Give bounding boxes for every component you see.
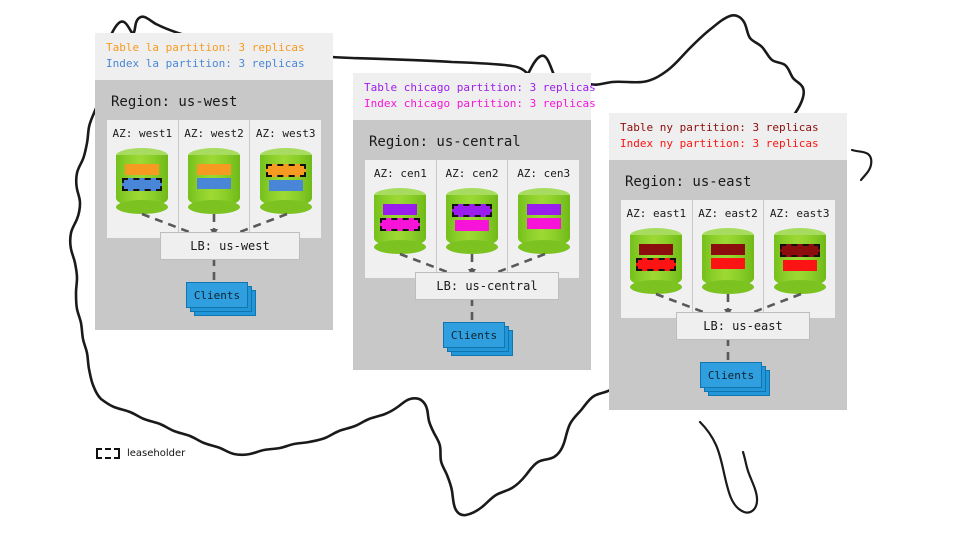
lb-box-us-east[interactable]: LB: us-east — [676, 312, 810, 340]
replica-stripe-table — [527, 204, 561, 215]
db-bottom — [774, 280, 826, 294]
clients-stack-us-east[interactable]: Clients — [700, 362, 762, 388]
map-detail-florida — [700, 422, 757, 513]
db-node-cen1[interactable] — [374, 188, 426, 254]
clients-stack-us-west[interactable]: Clients — [186, 282, 248, 308]
lb-label: LB: us-central — [436, 279, 537, 293]
az-strip-us-east: AZ: east1 AZ: east2 — [621, 200, 835, 318]
replica-stripe-table — [452, 204, 492, 217]
replica-stripe-index — [197, 178, 231, 189]
replica-stripe-table — [639, 244, 673, 255]
replica-stripe-table — [780, 244, 820, 257]
az-label: AZ: east1 — [621, 207, 692, 220]
replica-stripe-table — [125, 164, 159, 175]
partition-line-index: Index ny partition: 3 replicas — [620, 136, 836, 152]
region-title: Region: us-central — [365, 130, 579, 160]
replica-stripes — [702, 244, 754, 269]
az-label: AZ: east2 — [693, 207, 764, 220]
az-label: AZ: west3 — [250, 127, 321, 140]
partition-line-index: Index chicago partition: 3 replicas — [364, 96, 580, 112]
clients-label: Clients — [186, 282, 248, 308]
clients-label: Clients — [443, 322, 505, 348]
lb-box-us-central[interactable]: LB: us-central — [415, 272, 559, 300]
db-node-cen3[interactable] — [518, 188, 570, 254]
partition-header-us-west: Table la partition: 3 replicas Index la … — [95, 33, 333, 80]
region-title: Region: us-east — [621, 170, 835, 200]
replica-stripes — [518, 204, 570, 229]
db-node-east1[interactable] — [630, 228, 682, 294]
db-node-east3[interactable] — [774, 228, 826, 294]
az-cell-cen2[interactable]: AZ: cen2 — [436, 160, 508, 278]
az-cell-west1[interactable]: AZ: west1 — [107, 120, 178, 238]
db-node-west3[interactable] — [260, 148, 312, 214]
lb-box-us-west[interactable]: LB: us-west — [160, 232, 300, 260]
partition-line-table: Table la partition: 3 replicas — [106, 40, 322, 56]
replica-stripes — [188, 164, 240, 189]
az-label: AZ: west1 — [107, 127, 178, 140]
az-cell-cen3[interactable]: AZ: cen3 — [507, 160, 579, 278]
partition-header-us-central: Table chicago partition: 3 replicas Inde… — [353, 73, 591, 120]
az-cell-cen1[interactable]: AZ: cen1 — [365, 160, 436, 278]
az-cell-east1[interactable]: AZ: east1 — [621, 200, 692, 318]
db-node-cen2[interactable] — [446, 188, 498, 254]
replica-stripes — [774, 244, 826, 271]
replica-stripe-table — [266, 164, 306, 177]
replica-stripe-table — [711, 244, 745, 255]
az-cell-west3[interactable]: AZ: west3 — [249, 120, 321, 238]
db-bottom — [260, 200, 312, 214]
replica-stripes — [116, 164, 168, 191]
partition-line-table: Table ny partition: 3 replicas — [620, 120, 836, 136]
clients-label: Clients — [700, 362, 762, 388]
az-cell-west2[interactable]: AZ: west2 — [178, 120, 250, 238]
replica-stripe-index — [380, 218, 420, 231]
replica-stripe-index — [527, 218, 561, 229]
legend-label: leaseholder — [127, 448, 185, 459]
diagram-canvas: Table la partition: 3 replicas Index la … — [0, 0, 960, 540]
replica-stripe-index — [122, 178, 162, 191]
replica-stripe-index — [455, 220, 489, 231]
az-strip-us-central: AZ: cen1 AZ: cen2 — [365, 160, 579, 278]
leaseholder-swatch-icon — [96, 448, 120, 459]
partition-line-index: Index la partition: 3 replicas — [106, 56, 322, 72]
az-label: AZ: cen1 — [365, 167, 436, 180]
replica-stripe-table — [383, 204, 417, 215]
replica-stripe-index — [636, 258, 676, 271]
region-title: Region: us-west — [107, 90, 321, 120]
az-label: AZ: cen2 — [437, 167, 508, 180]
db-bottom — [374, 240, 426, 254]
db-bottom — [702, 280, 754, 294]
lb-label: LB: us-west — [190, 239, 269, 253]
replica-stripe-index — [269, 180, 303, 191]
db-node-west1[interactable] — [116, 148, 168, 214]
replica-stripe-table — [197, 164, 231, 175]
az-strip-us-west: AZ: west1 AZ: west2 — [107, 120, 321, 238]
db-bottom — [518, 240, 570, 254]
replica-stripes — [260, 164, 312, 191]
lb-label: LB: us-east — [703, 319, 782, 333]
partition-line-table: Table chicago partition: 3 replicas — [364, 80, 580, 96]
replica-stripes — [374, 204, 426, 231]
db-node-east2[interactable] — [702, 228, 754, 294]
az-label: AZ: cen3 — [508, 167, 579, 180]
db-bottom — [188, 200, 240, 214]
replica-stripes — [446, 204, 498, 231]
replica-stripes — [630, 244, 682, 271]
map-detail-northeast — [852, 150, 871, 180]
legend: leaseholder — [96, 448, 185, 459]
replica-stripe-index — [783, 260, 817, 271]
az-cell-east3[interactable]: AZ: east3 — [763, 200, 835, 318]
clients-stack-us-central[interactable]: Clients — [443, 322, 505, 348]
db-bottom — [630, 280, 682, 294]
replica-stripe-index — [711, 258, 745, 269]
az-cell-east2[interactable]: AZ: east2 — [692, 200, 764, 318]
partition-header-us-east: Table ny partition: 3 replicas Index ny … — [609, 113, 847, 160]
db-bottom — [446, 240, 498, 254]
db-node-west2[interactable] — [188, 148, 240, 214]
az-label: AZ: west2 — [179, 127, 250, 140]
az-label: AZ: east3 — [764, 207, 835, 220]
db-bottom — [116, 200, 168, 214]
